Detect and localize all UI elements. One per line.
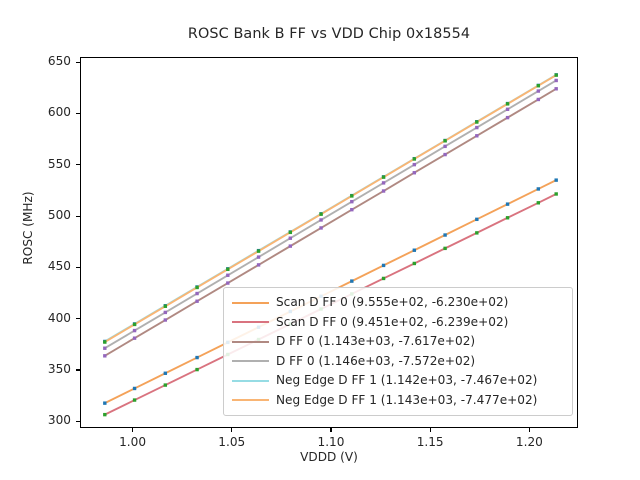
data-point — [443, 139, 446, 142]
legend-line-icon — [232, 298, 269, 308]
data-point — [319, 213, 322, 216]
data-point — [382, 277, 385, 280]
y-tick-label: 300 — [48, 413, 71, 427]
data-point — [103, 347, 106, 350]
x-tick-mark — [430, 428, 431, 432]
data-point — [554, 192, 557, 195]
data-point — [350, 279, 353, 282]
data-point — [382, 264, 385, 267]
data-point — [475, 126, 478, 129]
data-point — [413, 262, 416, 265]
data-point — [554, 178, 557, 181]
x-tick-label: 1.20 — [489, 435, 569, 449]
matplotlib-figure: ROSC Bank B FF vs VDD Chip 0x18554 ROSC … — [0, 0, 640, 480]
x-tick-mark — [529, 428, 530, 432]
data-point — [475, 120, 478, 123]
data-point — [537, 201, 540, 204]
data-point — [257, 263, 260, 266]
data-point — [133, 387, 136, 390]
data-point — [537, 187, 540, 190]
data-point — [164, 311, 167, 314]
page-title: ROSC Bank B FF vs VDD Chip 0x18554 — [80, 26, 578, 42]
data-point — [537, 84, 540, 87]
y-tick-label: 350 — [48, 362, 71, 376]
data-point — [226, 268, 229, 271]
data-point — [195, 286, 198, 289]
data-point — [443, 153, 446, 156]
data-point — [195, 300, 198, 303]
data-point — [133, 336, 136, 339]
data-point — [475, 218, 478, 221]
data-point — [537, 89, 540, 92]
x-tick-label: 1.05 — [192, 435, 272, 449]
legend-line-icon — [232, 337, 269, 347]
legend-line-icon — [232, 395, 269, 405]
data-point — [382, 175, 385, 178]
data-point — [443, 247, 446, 250]
data-point — [164, 372, 167, 375]
data-point — [133, 398, 136, 401]
y-tick-label: 650 — [48, 54, 71, 68]
data-point — [226, 274, 229, 277]
x-tick-label: 1.15 — [390, 435, 470, 449]
data-point — [195, 292, 198, 295]
x-tick-mark — [132, 428, 133, 432]
data-point — [554, 79, 557, 82]
data-point — [350, 194, 353, 197]
legend-line-icon — [232, 376, 269, 386]
data-point — [413, 163, 416, 166]
y-tick-label: 500 — [48, 208, 71, 222]
x-tick-label: 1.00 — [93, 435, 173, 449]
legend-line-icon — [232, 317, 269, 327]
data-point — [164, 383, 167, 386]
data-point — [475, 231, 478, 234]
data-point — [554, 73, 557, 76]
legend-item[interactable]: Scan D FF 0 (9.555e+02, -6.230e+02) — [230, 293, 566, 313]
data-point — [164, 318, 167, 321]
legend-item[interactable]: D FF 0 (1.143e+03, -7.617e+02) — [230, 332, 566, 352]
y-tick-label: 450 — [48, 259, 71, 273]
y-tick-label: 400 — [48, 311, 71, 325]
data-point — [350, 200, 353, 203]
data-point — [506, 216, 509, 219]
data-point — [413, 249, 416, 252]
x-tick-label: 1.10 — [291, 435, 371, 449]
data-point — [506, 108, 509, 111]
data-point — [257, 255, 260, 258]
data-point — [133, 323, 136, 326]
x-tick-mark — [330, 428, 331, 432]
data-point — [289, 237, 292, 240]
data-point — [103, 413, 106, 416]
legend-item-label: D FF 0 (1.143e+03, -7.617e+02) — [276, 335, 475, 348]
legend-item-label: Scan D FF 0 (9.555e+02, -6.230e+02) — [276, 296, 508, 309]
data-point — [506, 202, 509, 205]
x-tick-mark — [231, 428, 232, 432]
data-point — [382, 189, 385, 192]
legend-item[interactable]: Scan D FF 0 (9.451e+02, -6.239e+02) — [230, 313, 566, 333]
data-point — [443, 233, 446, 236]
legend-item[interactable]: Neg Edge D FF 1 (1.142e+03, -7.467e+02) — [230, 371, 566, 391]
legend-item-label: D FF 0 (1.146e+03, -7.572e+02) — [276, 355, 475, 368]
data-point — [103, 401, 106, 404]
data-point — [350, 208, 353, 211]
data-point — [554, 87, 557, 90]
data-point — [289, 244, 292, 247]
data-point — [257, 249, 260, 252]
legend-item[interactable]: Neg Edge D FF 1 (1.143e+03, -7.477e+02) — [230, 391, 566, 411]
legend-item-label: Scan D FF 0 (9.451e+02, -6.239e+02) — [276, 316, 508, 329]
data-point — [506, 116, 509, 119]
data-point — [382, 181, 385, 184]
data-point — [475, 134, 478, 137]
data-point — [319, 218, 322, 221]
data-point — [319, 226, 322, 229]
data-point — [443, 145, 446, 148]
y-tick-label: 550 — [48, 157, 71, 171]
data-point — [537, 98, 540, 101]
data-point — [195, 356, 198, 359]
data-point — [413, 157, 416, 160]
x-axis-label: VDDD (V) — [80, 450, 578, 464]
data-point — [506, 102, 509, 105]
legend-line-icon — [232, 356, 269, 366]
data-point — [164, 305, 167, 308]
y-axis-ticks: 300350400450500550600650 — [0, 57, 80, 428]
data-point — [103, 340, 106, 343]
data-point — [103, 354, 106, 357]
y-tick-label: 600 — [48, 105, 71, 119]
data-point — [133, 329, 136, 332]
data-point — [226, 281, 229, 284]
legend-item[interactable]: D FF 0 (1.146e+03, -7.572e+02) — [230, 352, 566, 372]
data-point — [289, 231, 292, 234]
data-point — [195, 368, 198, 371]
legend-item-label: Neg Edge D FF 1 (1.142e+03, -7.467e+02) — [276, 374, 537, 387]
chart-legend: Scan D FF 0 (9.555e+02, -6.230e+02)Scan … — [223, 287, 573, 416]
legend-item-label: Neg Edge D FF 1 (1.143e+03, -7.477e+02) — [276, 394, 537, 407]
data-point — [413, 171, 416, 174]
